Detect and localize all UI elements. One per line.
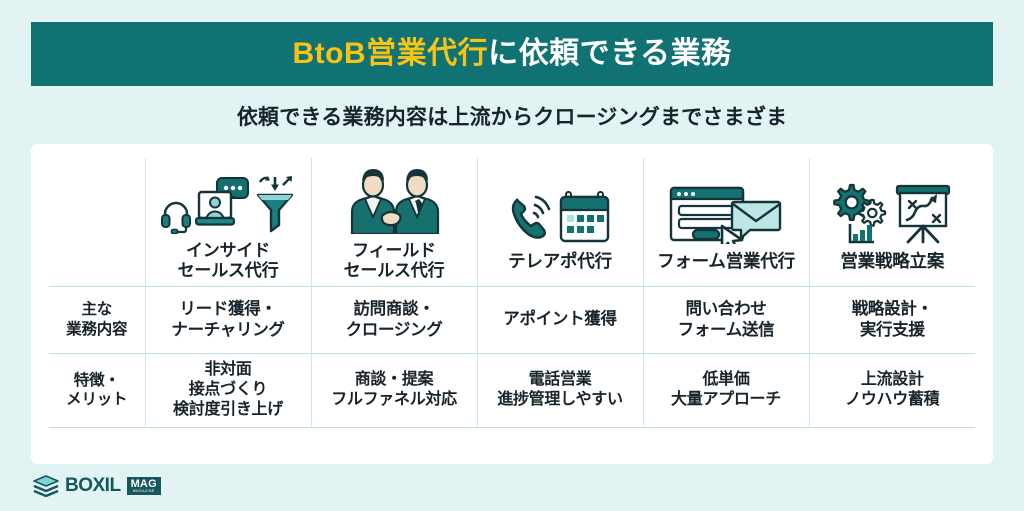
cell-features-form-sales: 低単価 大量アプローチ	[643, 353, 809, 427]
cell-line: 低単価	[644, 370, 809, 390]
matrix-corner-cell	[49, 158, 145, 286]
cell-line: 商談・提案	[312, 370, 477, 390]
cell-main-telemarketing: アポイント獲得	[477, 286, 643, 353]
header-line-1: フィールド	[312, 241, 477, 261]
cell-line: 上流設計	[810, 370, 976, 390]
table-bottom-border	[49, 427, 975, 428]
cell-line: クロージング	[312, 320, 477, 341]
row-label-line-2: 業務内容	[49, 320, 145, 339]
column-header-field-sales: フィールド セールス代行	[311, 158, 477, 286]
column-header-label: インサイド セールス代行	[146, 241, 311, 281]
cell-line: 実行支援	[810, 320, 976, 341]
laptop-person-chat-icon	[195, 176, 251, 234]
column-header-label: 営業戦略立案	[810, 251, 976, 272]
cell-features-field-sales: 商談・提案 フルファネル対応	[311, 353, 477, 427]
page-title-rest: に依頼できる業務	[488, 37, 731, 70]
presentation-board-icon	[892, 182, 954, 244]
matrix-header-row: インサイド セールス代行	[49, 158, 975, 286]
cell-line: 戦略設計・	[810, 299, 976, 320]
bar-chart-icon	[850, 224, 874, 242]
icon-group-form-sales	[644, 172, 809, 244]
subtitle: 依頼できる業務内容は上流からクロージングまでさまざま	[0, 101, 1024, 131]
cell-line: 問い合わせ	[644, 299, 809, 320]
table-bottom-border-cell	[49, 427, 975, 428]
column-header-telemarketing: テレアポ代行	[477, 158, 643, 286]
header-line-2: セールス代行	[312, 261, 477, 281]
row-header-features: 特徴・ メリット	[49, 353, 145, 427]
cell-line: 検討度引き上げ	[146, 400, 311, 420]
calendar-icon	[559, 190, 611, 244]
icon-group-telemarketing	[478, 172, 643, 244]
cell-line: ナーチャリング	[146, 320, 311, 341]
cell-line: フルファネル対応	[312, 390, 477, 410]
header-line-1: フォーム営業代行	[644, 251, 809, 272]
headset-icon	[161, 200, 191, 234]
handshake-icon	[342, 168, 446, 234]
row-label-line-1: 特徴・	[49, 371, 145, 390]
column-header-label: フォーム営業代行	[644, 251, 809, 272]
funnel-icon	[255, 176, 295, 234]
icon-group-inside-sales	[146, 162, 311, 234]
cell-features-sales-strategy: 上流設計 ノウハウ蓄積	[809, 353, 975, 427]
cell-line: アポイント獲得	[478, 309, 643, 330]
cell-line: リード獲得・	[146, 299, 311, 320]
cell-main-sales-strategy: 戦略設計・ 実行支援	[809, 286, 975, 353]
header-line-2: セールス代行	[146, 261, 311, 281]
services-matrix: インサイド セールス代行	[49, 158, 975, 428]
row-label-line-1: 主な	[49, 300, 145, 319]
cell-line: 接点づくり	[146, 380, 311, 400]
cell-features-inside-sales: 非対面 接点づくり 検討度引き上げ	[145, 353, 311, 427]
cell-line: 訪問商談・	[312, 299, 477, 320]
stacked-layers-icon	[33, 475, 59, 497]
header-line-1: テレアポ代行	[478, 251, 643, 272]
row-header-main-duties: 主な 業務内容	[49, 286, 145, 353]
boxil-mag-logo: BOXIL MAG MAGAZINE	[33, 475, 161, 497]
cell-line: フォーム送信	[644, 320, 809, 341]
column-header-form-sales: フォーム営業代行	[643, 158, 809, 286]
icon-group-sales-strategy	[810, 172, 976, 244]
logo-badge-subtext: MAGAZINE	[131, 490, 157, 494]
slide-canvas: BtoB営業代行に依頼できる業務 依頼できる業務内容は上流からクロージングまでさ…	[0, 0, 1024, 511]
web-form-icon	[668, 182, 784, 244]
cell-features-telemarketing: 電話営業 進捗管理しやすい	[477, 353, 643, 427]
column-header-label: フィールド セールス代行	[312, 241, 477, 281]
column-header-inside-sales: インサイド セールス代行	[145, 158, 311, 286]
column-header-label: テレアポ代行	[478, 251, 643, 272]
logo-badge: MAG MAGAZINE	[127, 477, 161, 495]
column-header-sales-strategy: 営業戦略立案	[809, 158, 975, 286]
cell-main-inside-sales: リード獲得・ ナーチャリング	[145, 286, 311, 353]
cell-line: 電話営業	[478, 370, 643, 390]
cell-main-form-sales: 問い合わせ フォーム送信	[643, 286, 809, 353]
cell-line: 進捗管理しやすい	[478, 390, 643, 410]
ringing-phone-icon	[509, 192, 555, 244]
cell-line: ノウハウ蓄積	[810, 390, 976, 410]
logo-badge-text: MAG	[131, 478, 157, 490]
content-card: インサイド セールス代行	[31, 144, 993, 464]
page-title: BtoB営業代行に依頼できる業務	[292, 39, 731, 69]
gears-icon	[830, 182, 888, 244]
cell-line: 大量アプローチ	[644, 390, 809, 410]
icon-group-field-sales	[312, 162, 477, 234]
header-line-1: 営業戦略立案	[810, 251, 976, 272]
header-line-1: インサイド	[146, 241, 311, 261]
cell-main-field-sales: 訪問商談・ クロージング	[311, 286, 477, 353]
title-bar: BtoB営業代行に依頼できる業務	[31, 22, 993, 86]
table-row-features: 特徴・ メリット 非対面 接点づくり 検討度引き上げ 商談・提案 フルファネル対…	[49, 353, 975, 427]
table-row-main-duties: 主な 業務内容 リード獲得・ ナーチャリング 訪問商談・ クロージング アポイン…	[49, 286, 975, 353]
page-title-accent: BtoB営業代行	[292, 37, 488, 70]
logo-wordmark: BOXIL	[65, 475, 121, 497]
row-label-line-2: メリット	[49, 390, 145, 409]
cell-line: 非対面	[146, 360, 311, 380]
